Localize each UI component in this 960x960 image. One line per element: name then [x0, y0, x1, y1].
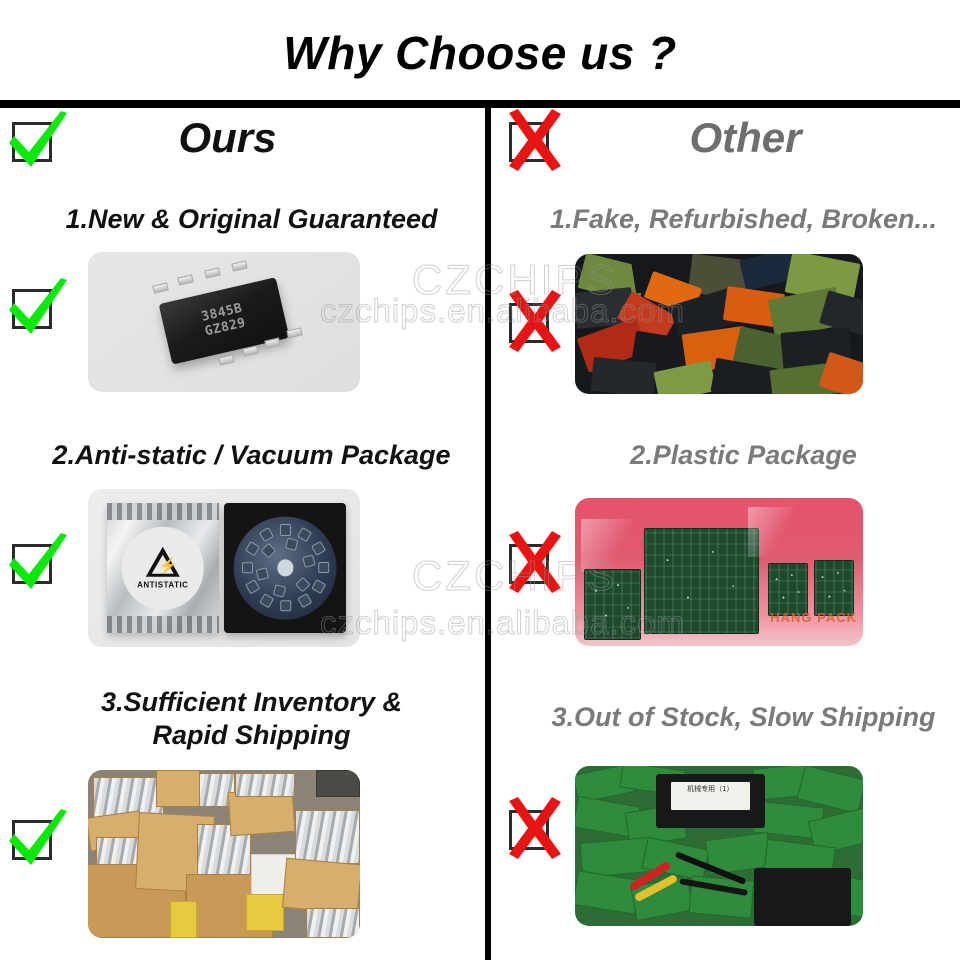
green-check-icon	[1, 527, 75, 601]
crossbox-other-row-2	[509, 544, 549, 584]
column-ours: Ours 1.New & Original Guaranteed	[0, 106, 485, 960]
component-reel	[224, 503, 346, 633]
green-check-icon	[1, 105, 75, 179]
other-row-3-text: 3.Out of Stock, Slow Shipping	[491, 702, 960, 733]
lightning-bolt-icon: ⚡	[159, 558, 178, 573]
green-check-icon	[1, 272, 75, 346]
other-row-3-photo: 机械专用（1）	[575, 766, 863, 926]
antistatic-bag: ⚡ ANTISTATIC	[107, 503, 219, 633]
why-choose-us-infographic: Why Choose us ? Ours 1.New & Original Gu…	[0, 0, 960, 960]
plastic-bag-brand-text: HANG PACK	[770, 610, 857, 625]
checkbox-ours-row-3	[12, 820, 52, 860]
red-cross-icon	[498, 527, 572, 601]
antistatic-label: ⚡ ANTISTATIC	[122, 527, 205, 610]
reel-hub	[277, 560, 293, 576]
checkbox-ours-row-1	[12, 289, 52, 329]
black-adapter	[754, 868, 852, 926]
ours-row-1-text: 1.New & Original Guaranteed	[0, 204, 485, 235]
other-row-1-photo	[575, 254, 863, 394]
other-row-2-photo: HANG PACK	[575, 498, 863, 646]
ours-row-3-photo	[88, 770, 360, 938]
green-check-icon	[1, 803, 75, 877]
black-module: 机械专用（1）	[656, 774, 765, 828]
red-cross-icon	[498, 105, 572, 179]
ours-row-2-photo: ⚡ ANTISTATIC	[88, 489, 360, 647]
ours-row-2-text: 2.Anti-static / Vacuum Package	[0, 440, 485, 471]
other-row-1-text: 1.Fake, Refurbished, Broken...	[491, 204, 960, 235]
reel-disc	[234, 517, 337, 620]
ours-row-3-text: 3.Sufficient Inventory & Rapid Shipping	[0, 686, 485, 752]
ours-row-1-photo: 3845B GZ829	[88, 252, 360, 392]
page-title: Why Choose us ?	[0, 26, 960, 80]
red-cross-icon	[498, 793, 572, 867]
black-module-label: 机械专用（1）	[671, 782, 750, 810]
checkbox-ours-header	[12, 122, 52, 162]
crossbox-other-row-3	[509, 810, 549, 850]
high-voltage-warning-icon: ⚡	[146, 546, 180, 576]
crossbox-other-header	[509, 122, 549, 162]
column-other: Other 1.Fake, Refurbished, Broken...	[491, 106, 960, 960]
antistatic-label-text: ANTISTATIC	[137, 580, 188, 589]
checkbox-ours-row-2	[12, 544, 52, 584]
red-cross-icon	[498, 286, 572, 360]
chip-package: 3845B GZ829	[159, 277, 289, 364]
other-row-2-text: 2.Plastic Package	[491, 440, 960, 471]
crossbox-other-row-1	[509, 303, 549, 343]
chip-marking-text: 3845B GZ829	[200, 301, 247, 339]
